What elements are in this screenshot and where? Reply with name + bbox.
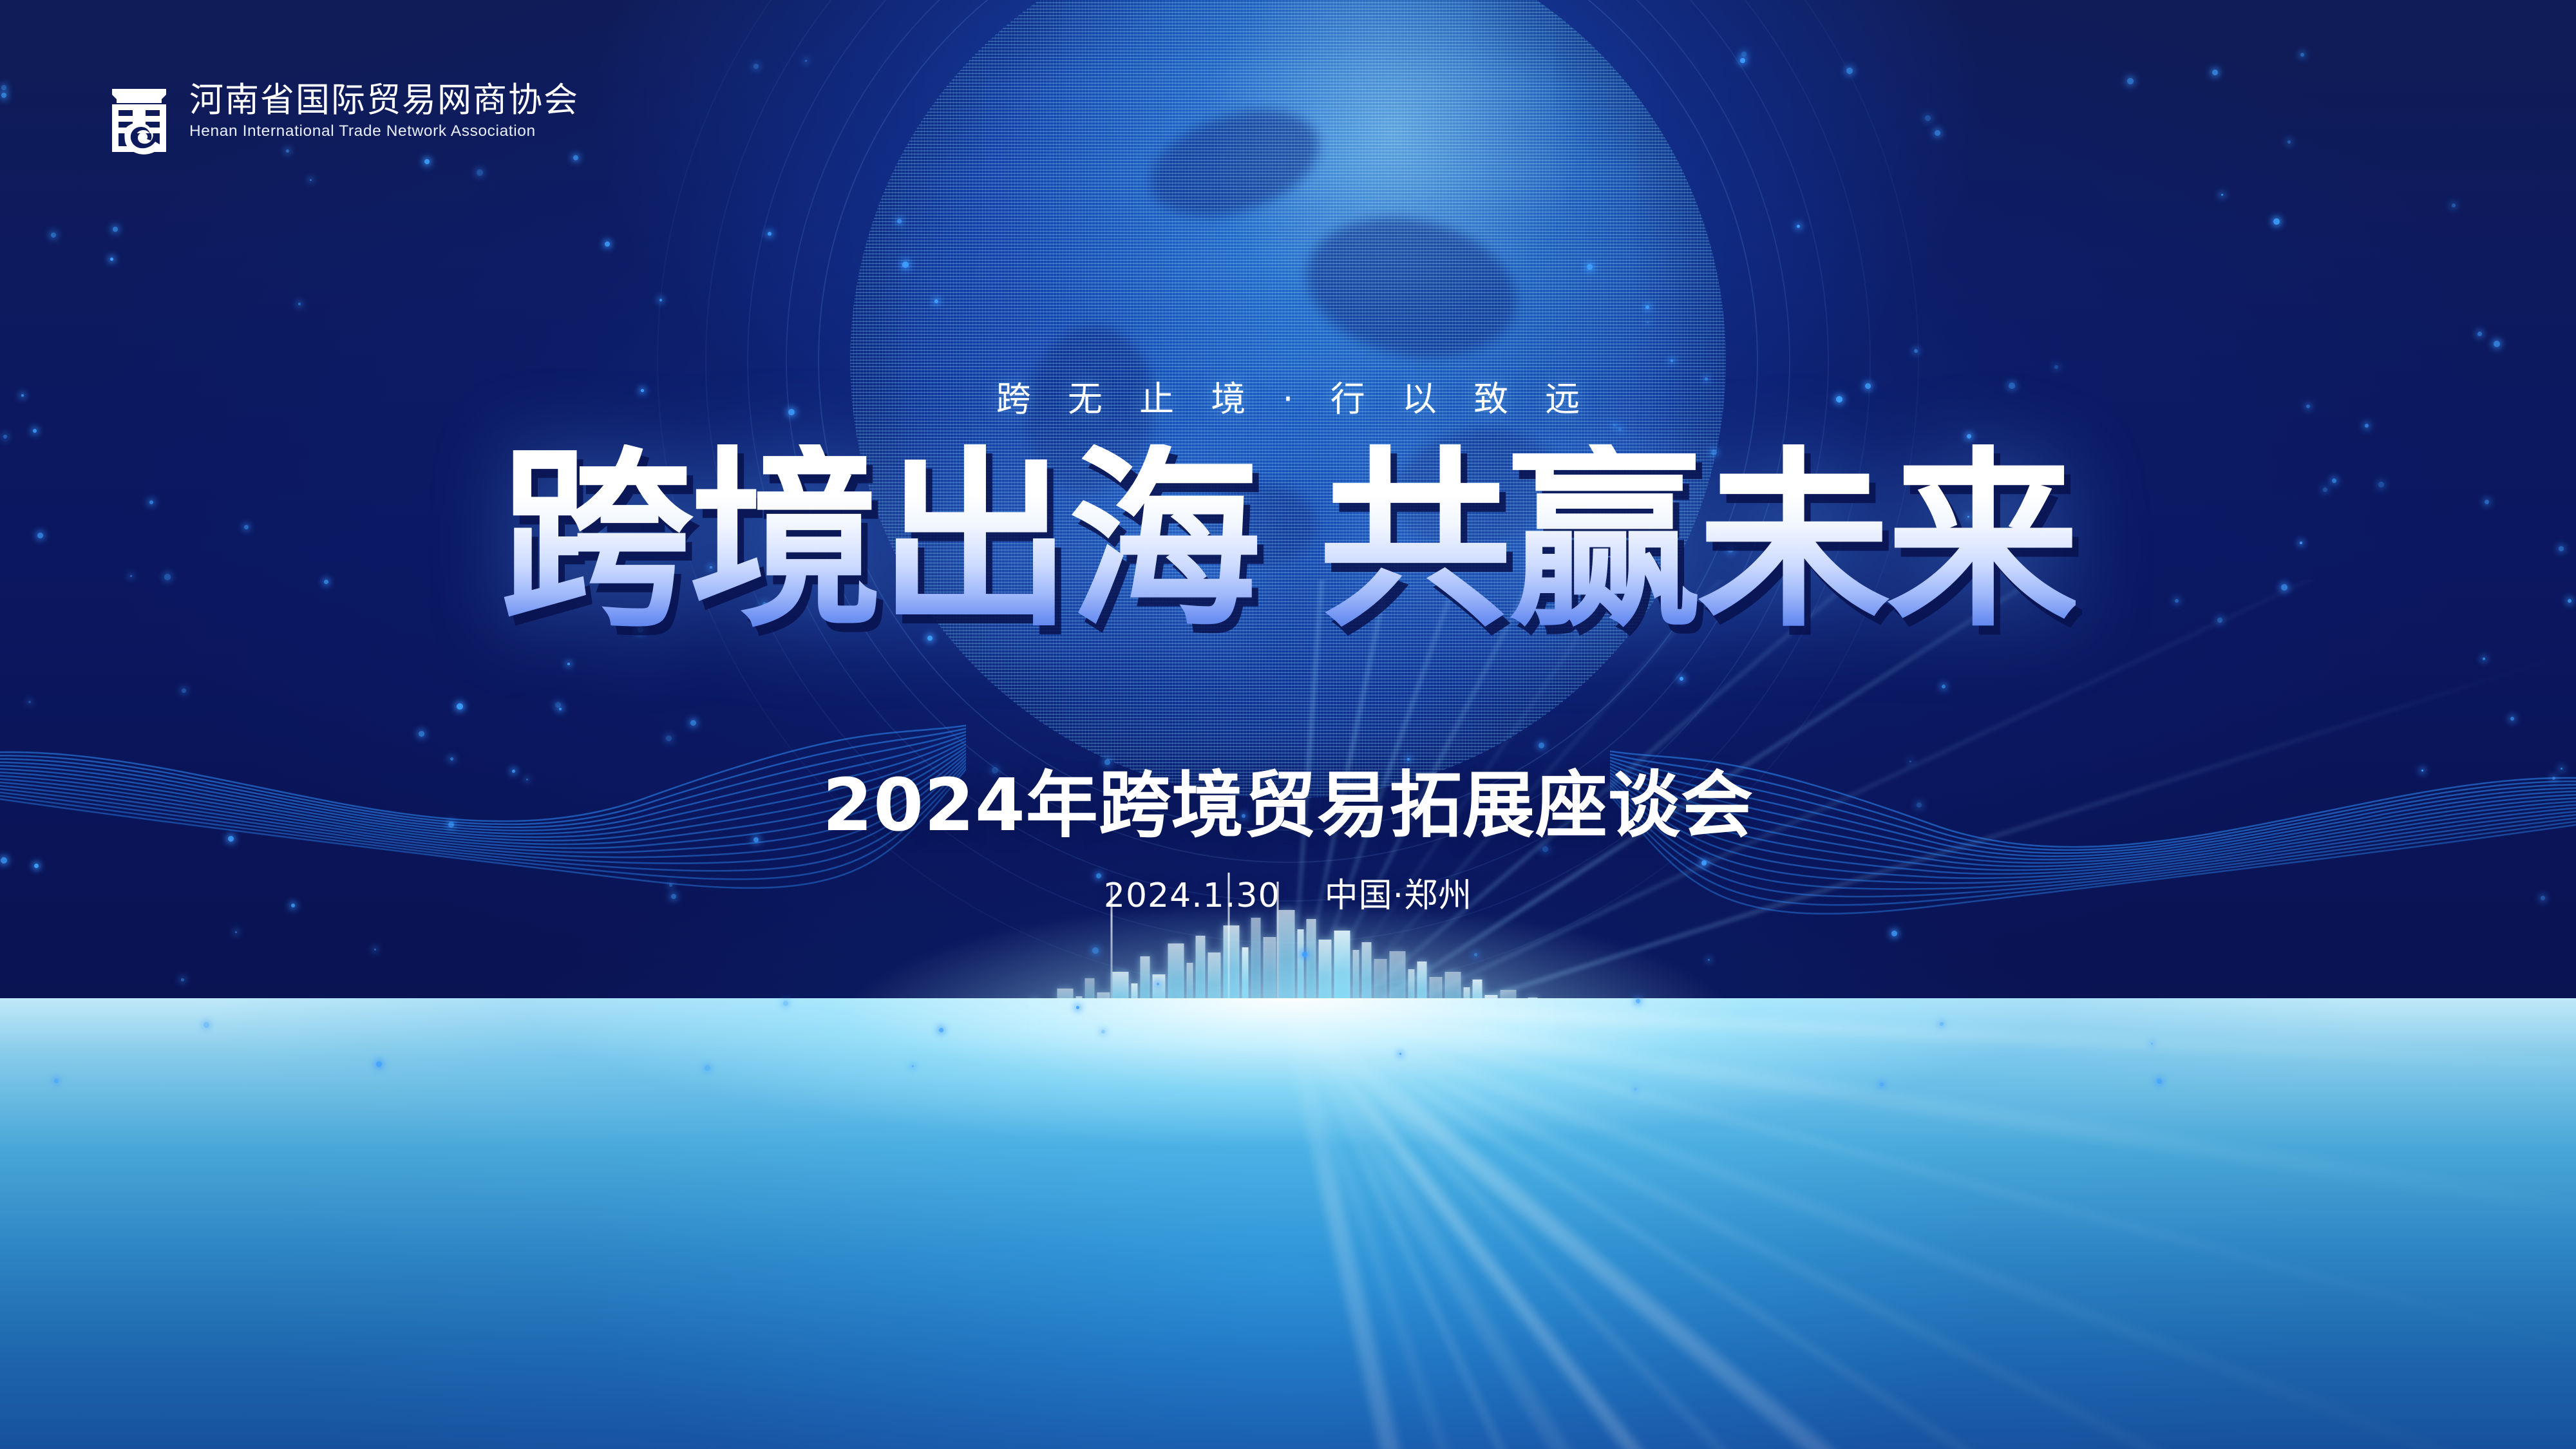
glowing-particle-icon	[2494, 341, 2500, 347]
title-part-2: 共赢未来	[1318, 444, 2076, 638]
glowing-particle-icon	[2365, 424, 2369, 428]
glowing-particle-icon	[2300, 53, 2304, 57]
glowing-particle-icon	[1846, 68, 1853, 74]
glowing-particle-icon	[1797, 225, 1800, 228]
glowing-particle-icon	[2477, 332, 2482, 336]
glowing-particle-icon	[113, 227, 118, 232]
event-date: 2024.1.30	[1104, 876, 1280, 915]
glowing-particle-icon	[659, 299, 662, 301]
henan-seal-emblem-icon	[108, 85, 170, 156]
glowing-particle-icon	[3, 435, 7, 439]
ground-light-ray	[1287, 998, 2576, 1007]
ground-light-ray	[1285, 999, 2576, 1449]
glowing-particle-icon	[1935, 130, 1940, 136]
glowing-particle-icon	[2221, 194, 2223, 196]
ground-light-ray	[1286, 999, 2548, 1449]
glowing-particle-icon	[1, 93, 6, 98]
glowing-particle-icon	[2273, 218, 2280, 225]
glowing-particle-icon	[768, 232, 772, 236]
event-location: 中国·郑州	[1325, 876, 1473, 915]
glowing-particle-icon	[33, 429, 37, 433]
glowing-particle-icon	[298, 303, 301, 305]
event-poster: 河南省国际贸易网商协会 Henan International Trade Ne…	[0, 0, 2576, 1449]
glowing-particle-icon	[573, 155, 578, 160]
event-date-location: 2024.1.30 中国·郑州	[0, 868, 2576, 916]
glowing-particle-icon	[2212, 70, 2218, 75]
glowing-particle-icon	[2127, 78, 2134, 84]
glowing-particle-icon	[51, 232, 56, 238]
association-logo[interactable]: 河南省国际贸易网商协会 Henan International Trade Ne…	[108, 82, 579, 156]
glowing-particle-icon	[1740, 58, 1745, 63]
glowing-particle-icon	[110, 258, 113, 261]
logo-name-en: Henan International Trade Network Associ…	[189, 122, 579, 140]
glowing-particle-icon	[477, 169, 483, 176]
glowing-particle-icon	[1914, 349, 1918, 353]
glowing-particle-icon	[424, 159, 430, 164]
glowing-particle-icon	[2054, 365, 2058, 369]
event-tagline: 跨 无 止 境 · 行 以 致 远	[0, 370, 2576, 421]
logo-name-cn: 河南省国际贸易网商协会	[189, 82, 579, 118]
glowing-particle-icon	[1, 85, 6, 90]
event-subtitle: 2024年跨境贸易拓展座谈会	[0, 747, 2576, 851]
glowing-particle-icon	[605, 241, 610, 247]
glowing-particle-icon	[753, 64, 759, 69]
title-part-1: 跨境出海	[500, 444, 1258, 638]
glowing-particle-icon	[2287, 140, 2291, 144]
glowing-particle-icon	[310, 179, 312, 181]
ground-light-rays-icon	[0, 998, 2576, 1449]
glowing-particle-icon	[805, 60, 807, 62]
glowing-particle-icon	[1925, 115, 1931, 121]
page-title: 跨境出海 共赢未来	[0, 444, 2576, 638]
glowing-particle-icon	[1741, 52, 1747, 57]
glowing-particle-icon	[2452, 204, 2456, 207]
